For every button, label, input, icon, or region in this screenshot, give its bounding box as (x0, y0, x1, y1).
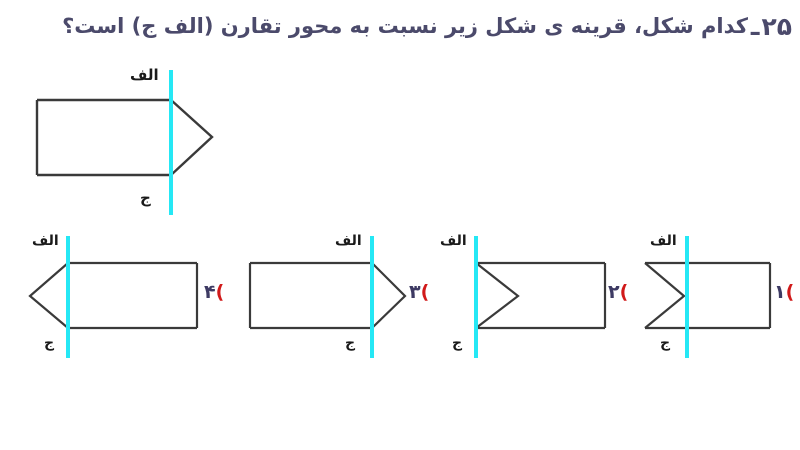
option-3-arrowhead (372, 263, 405, 328)
option-2-figure[interactable]: الف ج )۲ (432, 228, 622, 378)
prompt-axis-bottom-label: ج (140, 191, 151, 206)
option-4-paren: ) (216, 281, 225, 303)
option-4-figure[interactable]: الف ج )۴ (14, 228, 239, 378)
option-2-axis-top-label: الف (440, 234, 467, 248)
option-1-axis-top-label: الف (650, 234, 677, 248)
option-2-notch (476, 263, 518, 328)
question-number: ۲۵ (761, 14, 792, 39)
option-3-axis-top-label: الف (335, 234, 362, 248)
option-3-index[interactable]: )۳ (409, 283, 429, 302)
option-4-digit: ۴ (204, 281, 216, 303)
option-3-paren: ) (421, 281, 430, 303)
option-4-svg (14, 228, 239, 378)
option-1-digit: ۱ (774, 281, 786, 303)
option-1-figure[interactable]: الف ج )۱ (632, 228, 800, 378)
option-4-index[interactable]: )۴ (204, 283, 224, 302)
option-1-paren: ) (786, 281, 795, 303)
option-2-axis-bottom-label: ج (452, 336, 462, 350)
option-2-svg (432, 228, 622, 378)
option-4-axis-top-label: الف (32, 234, 59, 248)
prompt-figure-svg (12, 60, 262, 230)
question-dash: ـ (748, 14, 762, 39)
option-2-index[interactable]: )۲ (608, 283, 628, 302)
option-2-paren: ) (620, 281, 629, 303)
option-2-digit: ۲ (608, 281, 620, 303)
option-3-axis-bottom-label: ج (345, 336, 355, 350)
option-3-svg (232, 228, 442, 378)
question-text: کدام شکل، قرینه ی شکل زیر نسبت به محور ت… (62, 16, 748, 37)
option-1-index[interactable]: )۱ (774, 283, 794, 302)
option-1-notch (645, 263, 684, 328)
option-1-svg (632, 228, 800, 378)
prompt-shape-arrowhead (171, 100, 212, 175)
prompt-axis-top-label: الف (130, 68, 159, 83)
worksheet-page: ۲۵ ـ کدام شکل، قرینه ی شکل زیر نسبت به م… (0, 0, 800, 450)
option-4-axis-bottom-label: ج (44, 336, 54, 350)
option-3-digit: ۳ (409, 281, 421, 303)
prompt-figure: الف ج (12, 60, 262, 230)
option-4-arrowhead (30, 263, 68, 328)
question-header: ۲۵ ـ کدام شکل، قرینه ی شکل زیر نسبت به م… (8, 6, 792, 46)
option-3-figure[interactable]: الف ج )۳ (232, 228, 442, 378)
option-1-axis-bottom-label: ج (660, 336, 670, 350)
